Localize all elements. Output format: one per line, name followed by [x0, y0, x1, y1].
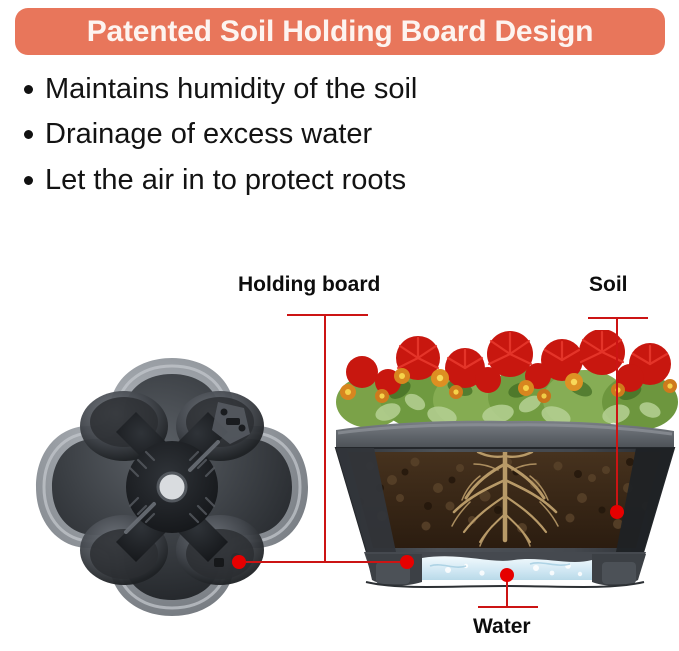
planter-body: [330, 440, 679, 560]
list-item: Drainage of excess water: [24, 117, 644, 152]
bullet-dot-icon: [24, 130, 33, 139]
feature-list: Maintains humidity of the soil Drainage …: [24, 72, 644, 208]
callout-label-soil: Soil: [589, 273, 628, 297]
infographic-canvas: Patented Soil Holding Board Design Maint…: [0, 0, 679, 651]
feature-text: Let the air in to protect roots: [45, 163, 406, 198]
feature-text: Maintains humidity of the soil: [45, 72, 417, 107]
bullet-dot-icon: [24, 85, 33, 94]
holding-board-illustration: [22, 352, 322, 637]
list-item: Let the air in to protect roots: [24, 163, 644, 198]
list-item: Maintains humidity of the soil: [24, 72, 644, 107]
header-banner: Patented Soil Holding Board Design: [15, 8, 665, 55]
callout-label-holding-board: Holding board: [238, 273, 380, 297]
flower-bed: [336, 330, 678, 430]
callout-label-water: Water: [473, 615, 531, 639]
water-reservoir: [364, 552, 646, 587]
page-title: Patented Soil Holding Board Design: [87, 17, 594, 47]
bullet-dot-icon: [24, 176, 33, 185]
planter-cross-section-illustration: [330, 330, 679, 595]
feature-text: Drainage of excess water: [45, 117, 372, 152]
